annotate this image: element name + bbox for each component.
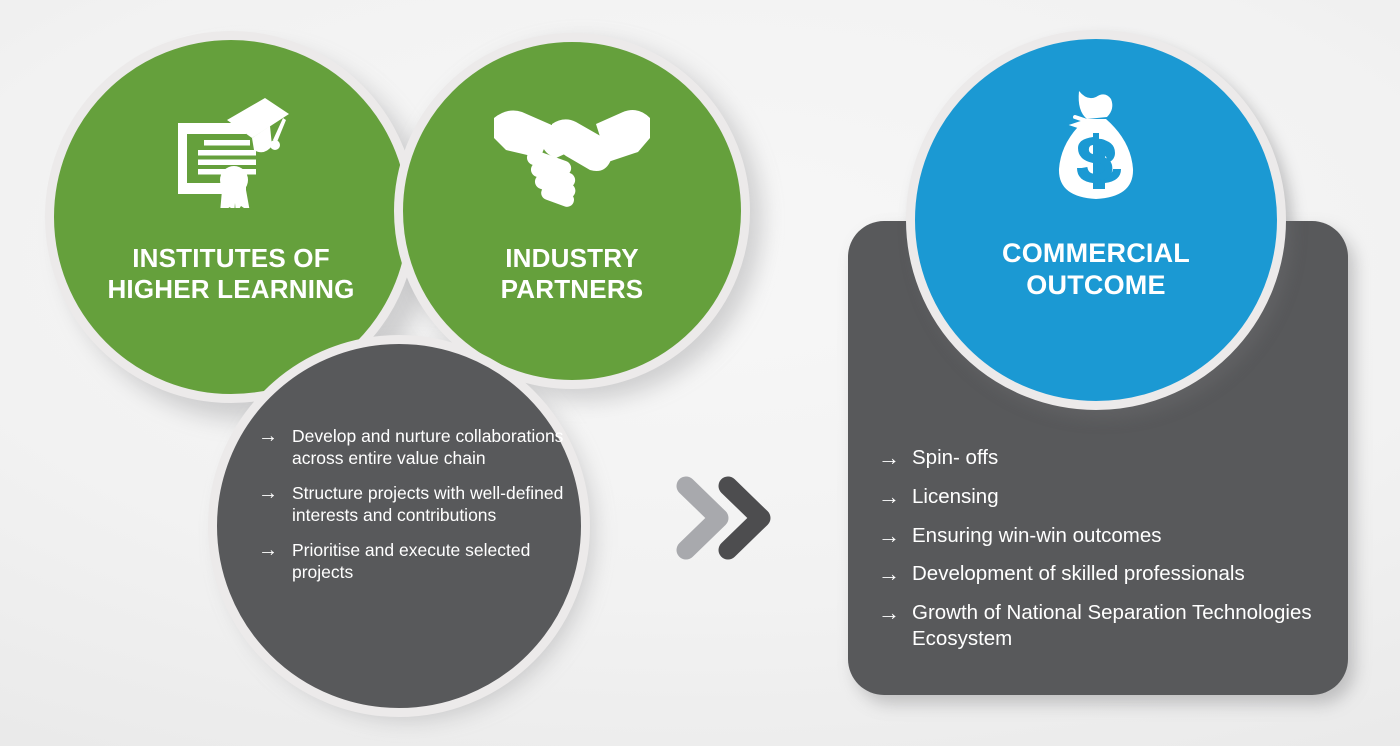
money-bag-icon: $: [1053, 89, 1139, 212]
arrow-right-icon: →: [258, 482, 292, 503]
list-item-text: Growth of National Separation Technologi…: [912, 600, 1330, 652]
node-label-industry-partners: INDUSTRY PARTNERS: [442, 243, 702, 304]
list-item: → Structure projects with well-defined i…: [258, 482, 570, 526]
list-item-text: Structure projects with well-defined int…: [292, 482, 570, 526]
diagram-canvas: INSTITUTES OF HIGHER LEARNING INDUSTRY P…: [0, 0, 1400, 746]
arrow-right-icon: →: [258, 539, 292, 560]
node-label-institutes-of-higher-learning: INSTITUTES OF HIGHER LEARNING: [81, 243, 381, 304]
arrow-right-icon: →: [878, 523, 912, 547]
graduation-diploma-icon: [172, 96, 290, 213]
list-item: → Ensuring win-win outcomes: [878, 523, 1330, 549]
list-item: → Licensing: [878, 484, 1330, 510]
handshake-icon: [492, 104, 652, 213]
node-industry-partners[interactable]: INDUSTRY PARTNERS: [394, 33, 750, 389]
list-item: → Spin- offs: [878, 445, 1330, 471]
arrow-right-icon: →: [258, 425, 292, 446]
arrow-right-icon: →: [878, 484, 912, 508]
collaboration-bullet-list: → Develop and nurture collaborations acr…: [258, 425, 570, 596]
node-commercial-outcome[interactable]: $ COMMERCIAL OUTCOME: [906, 30, 1286, 410]
list-item-text: Spin- offs: [912, 445, 1330, 471]
list-item-text: Ensuring win-win outcomes: [912, 523, 1330, 549]
arrow-right-icon: →: [878, 600, 912, 624]
arrow-right-icon: →: [878, 561, 912, 585]
list-item: → Develop and nurture collaborations acr…: [258, 425, 570, 469]
list-item-text: Licensing: [912, 484, 1330, 510]
list-item-text: Develop and nurture collaborations acros…: [292, 425, 570, 469]
list-item: → Prioritise and execute selected projec…: [258, 539, 570, 583]
list-item-text: Prioritise and execute selected projects: [292, 539, 570, 583]
node-label-commercial-outcome: COMMERCIAL OUTCOME: [946, 238, 1246, 302]
list-item: → Development of skilled professionals: [878, 561, 1330, 587]
double-chevron-right-icon: [672, 470, 782, 570]
svg-text:$: $: [1079, 126, 1113, 195]
outcome-bullet-list: → Spin- offs → Licensing → Ensuring win-…: [878, 445, 1330, 665]
list-item-text: Development of skilled professionals: [912, 561, 1330, 587]
arrow-right-icon: →: [878, 445, 912, 469]
list-item: → Growth of National Separation Technolo…: [878, 600, 1330, 652]
